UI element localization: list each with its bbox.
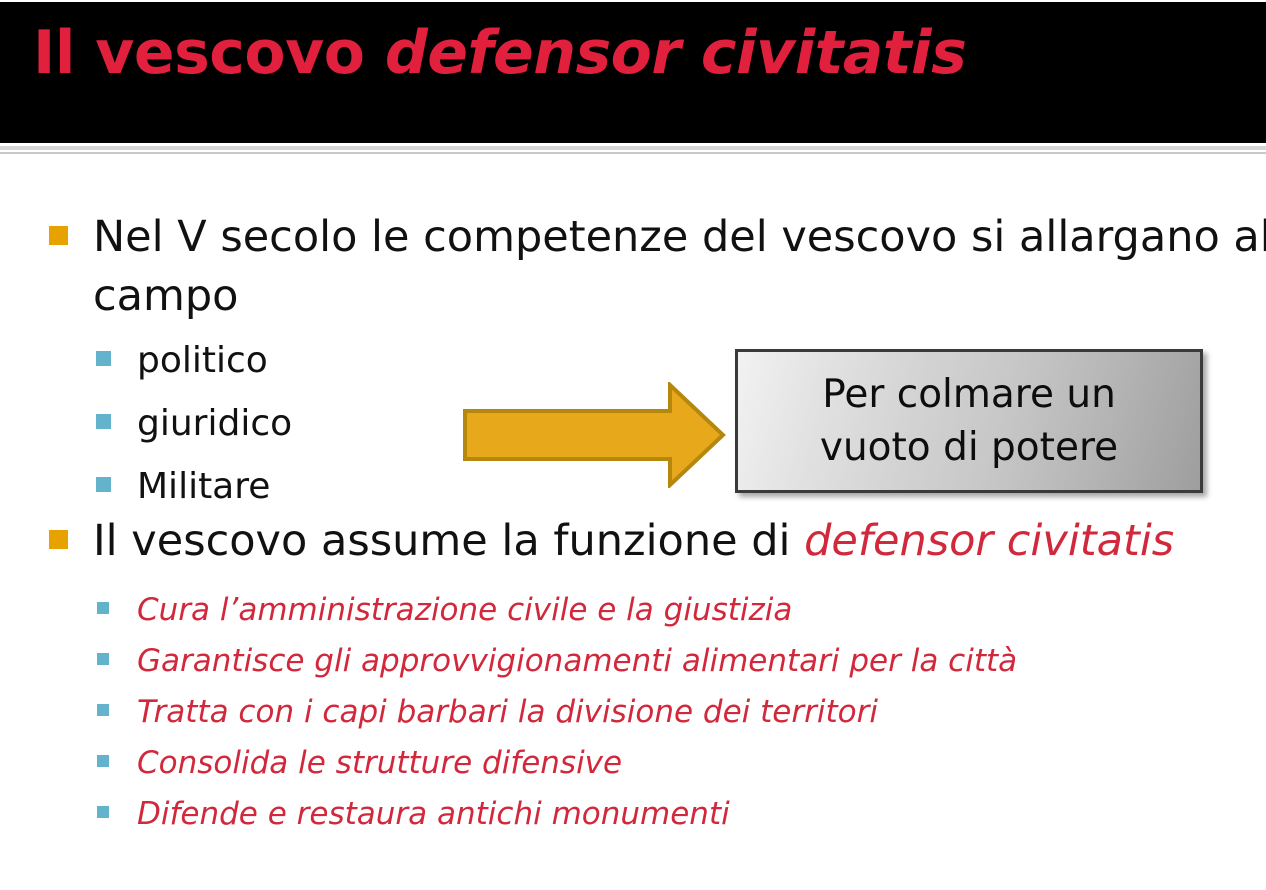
square-bullet-icon [96, 351, 111, 366]
bullet-difende-label: Difende e restaura antichi monumenti [137, 792, 730, 836]
slide-body: Nel V secolo le competenze del vescovo s… [0, 160, 1266, 890]
right-arrow-shape [462, 382, 728, 488]
bullet-garantisce-label: Garantisce gli approvvigionamenti alimen… [137, 639, 1017, 683]
bullet-competenze-label: Nel V secolo le competenze del vescovo s… [93, 208, 1266, 326]
bullet-funzione-plain: Il vescovo assume la funzione di [93, 516, 804, 566]
bullet-garantisce: Garantisce gli approvvigionamenti alimen… [92, 639, 1017, 683]
slide: Il vescovo defensor civitatis Nel V seco… [0, 0, 1266, 890]
bullet-consolida: Consolida le strutture difensive [92, 741, 622, 785]
square-bullet-icon [97, 704, 109, 716]
bullet-militare-label: Militare [137, 462, 270, 512]
bullet-giuridico-label: giuridico [137, 399, 292, 449]
square-bullet-icon [96, 414, 111, 429]
square-bullet-icon [49, 530, 68, 549]
bullet-politico-label: politico [137, 336, 268, 386]
title-divider-top [0, 146, 1266, 150]
square-bullet-icon [97, 755, 109, 767]
bullet-politico: politico [92, 336, 268, 386]
bullet-tratta: Tratta con i capi barbari la divisione d… [92, 690, 878, 734]
title-divider-bottom [0, 152, 1266, 154]
right-arrow-icon [462, 382, 728, 488]
bullet-giuridico: giuridico [92, 399, 292, 449]
square-bullet-icon [97, 602, 109, 614]
bullet-funzione-italic: defensor civitatis [804, 516, 1174, 566]
bullet-funzione-label: Il vescovo assume la funzione di defenso… [93, 512, 1266, 571]
bullet-cura: Cura l’amministrazione civile e la giust… [92, 588, 792, 632]
bullet-militare: Militare [92, 462, 270, 512]
page-title: Il vescovo defensor civitatis [33, 16, 966, 90]
square-bullet-icon [49, 226, 68, 245]
bullet-difende: Difende e restaura antichi monumenti [92, 792, 730, 836]
callout-box: Per colmare un vuoto di potere [735, 349, 1203, 493]
title-plain: Il vescovo [33, 18, 385, 88]
bullet-competenze: Nel V secolo le competenze del vescovo s… [44, 208, 1266, 326]
square-bullet-icon [96, 477, 111, 492]
square-bullet-icon [97, 653, 109, 665]
callout-text: Per colmare un vuoto di potere [820, 368, 1118, 474]
bullet-funzione: Il vescovo assume la funzione di defenso… [44, 512, 1266, 571]
bullet-tratta-label: Tratta con i capi barbari la divisione d… [137, 690, 878, 734]
square-bullet-icon [97, 806, 109, 818]
title-band: Il vescovo defensor civitatis [0, 2, 1266, 143]
bullet-cura-label: Cura l’amministrazione civile e la giust… [137, 588, 792, 632]
bullet-consolida-label: Consolida le strutture difensive [137, 741, 622, 785]
title-italic: defensor civitatis [385, 18, 967, 88]
